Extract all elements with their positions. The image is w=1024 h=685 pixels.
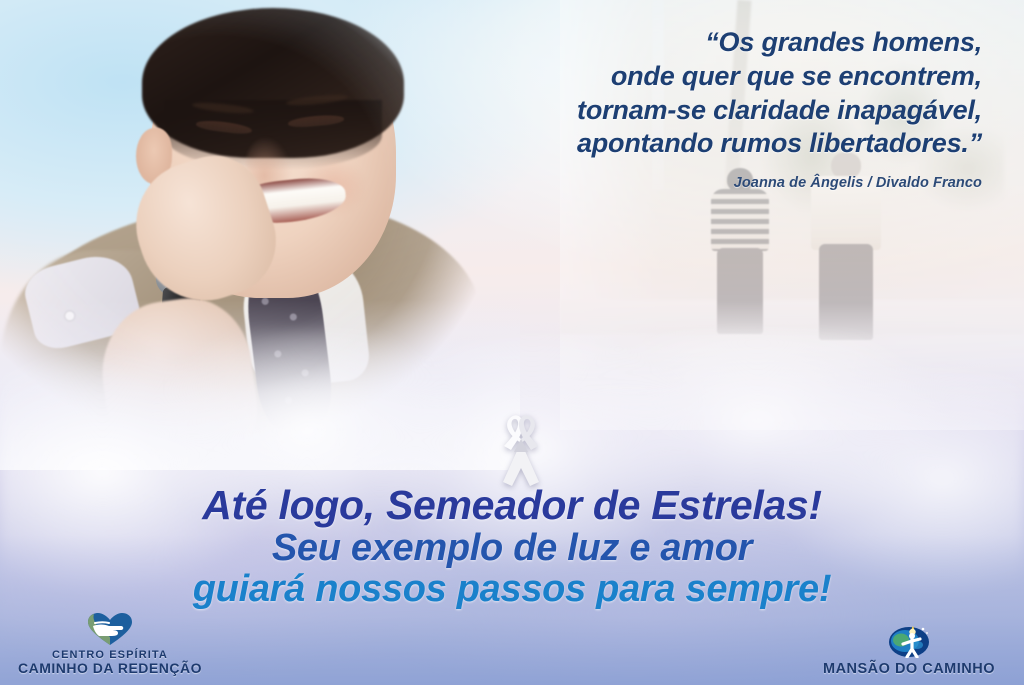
- white-ribbon-icon: [490, 412, 552, 490]
- portrait-bottom-fade: [0, 300, 520, 470]
- quote-line-2: onde quer que se encontrem,: [422, 60, 982, 94]
- heart-with-hand-icon: [87, 612, 133, 646]
- quote-line-1: “Os grandes homens,: [422, 26, 982, 60]
- headline-block: Até logo, Semeador de Estrelas! Seu exem…: [0, 484, 1024, 609]
- memorial-banner: “Os grandes homens, onde quer que se enc…: [0, 0, 1024, 685]
- headline-line-1: Até logo, Semeador de Estrelas!: [0, 484, 1024, 528]
- logo-right-text: MANSÃO DO CAMINHO: [804, 661, 1014, 677]
- logo-right-line-1: MANSÃO DO CAMINHO: [804, 661, 1014, 677]
- quote-line-3: tornam-se claridade inapagável,: [422, 94, 982, 128]
- logo-centro-espirita: CENTRO ESPÍRITA CAMINHO DA REDENÇÃO: [10, 612, 210, 677]
- headline-line-3: guiará nossos passos para sempre!: [0, 569, 1024, 610]
- figure-striped-shirt: [711, 189, 769, 251]
- quote-line-4: apontando rumos libertadores.”: [422, 127, 982, 161]
- headline-line-2: Seu exemplo de luz e amor: [0, 528, 1024, 569]
- figure-legs: [717, 248, 763, 334]
- quote-block: “Os grandes homens, onde quer que se enc…: [422, 26, 982, 191]
- logo-left-line-2: CAMINHO DA REDENÇÃO: [10, 661, 210, 677]
- background-figure-child: [710, 168, 770, 336]
- logo-left-text: CENTRO ESPÍRITA CAMINHO DA REDENÇÃO: [10, 649, 210, 677]
- figure-legs: [819, 244, 873, 340]
- quote-attribution: Joanna de Ângelis / Divaldo Franco: [422, 175, 982, 191]
- globe-with-figure-icon: [887, 620, 931, 658]
- logo-mansao-do-caminho: MANSÃO DO CAMINHO: [804, 620, 1014, 677]
- background-wall: [560, 300, 1024, 334]
